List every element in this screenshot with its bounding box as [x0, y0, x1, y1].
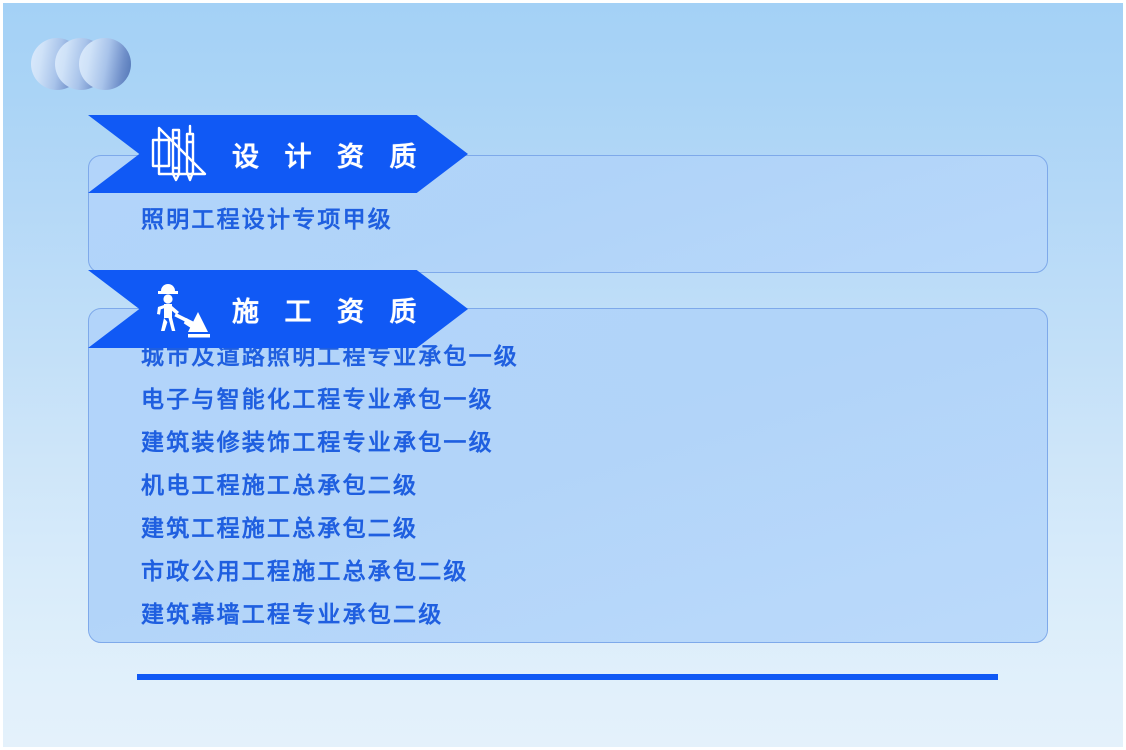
list-item: 建筑幕墙工程专业承包二级 [141, 593, 1047, 636]
banner-construction-qualification[interactable]: 施 工 资 质 [88, 270, 468, 348]
section-design-qualification: 照明工程设计专项甲级 设 [88, 115, 1068, 275]
banner-design-qualification[interactable]: 设 计 资 质 [88, 115, 468, 193]
list-item: 机电工程施工总承包二级 [141, 464, 1047, 507]
drafting-tools-icon [142, 119, 218, 189]
list-item: 照明工程设计专项甲级 [141, 198, 1047, 241]
construction-qualification-list: 城市及道路照明工程专业承包一级 电子与智能化工程专业承包一级 建筑装修装饰工程专… [89, 309, 1047, 642]
circle-3 [79, 38, 131, 90]
construction-qualification-card: 城市及道路照明工程专业承包一级 电子与智能化工程专业承包一级 建筑装修装饰工程专… [88, 308, 1048, 643]
banner-title-design: 设 计 资 质 [232, 135, 426, 174]
list-item: 市政公用工程施工总承包二级 [141, 550, 1047, 593]
bottom-accent-bar [137, 674, 998, 680]
list-item: 建筑工程施工总承包二级 [141, 507, 1047, 550]
list-item: 电子与智能化工程专业承包一级 [141, 378, 1047, 421]
slide-canvas: 照明工程设计专项甲级 设 [3, 3, 1123, 747]
construction-worker-icon [142, 274, 218, 344]
list-item: 建筑装修装饰工程专业承包一级 [141, 421, 1047, 464]
section-construction-qualification: 城市及道路照明工程专业承包一级 电子与智能化工程专业承包一级 建筑装修装饰工程专… [88, 270, 1068, 680]
three-overlapping-circles-icon [31, 38, 131, 90]
banner-title-construction: 施 工 资 质 [232, 290, 426, 329]
